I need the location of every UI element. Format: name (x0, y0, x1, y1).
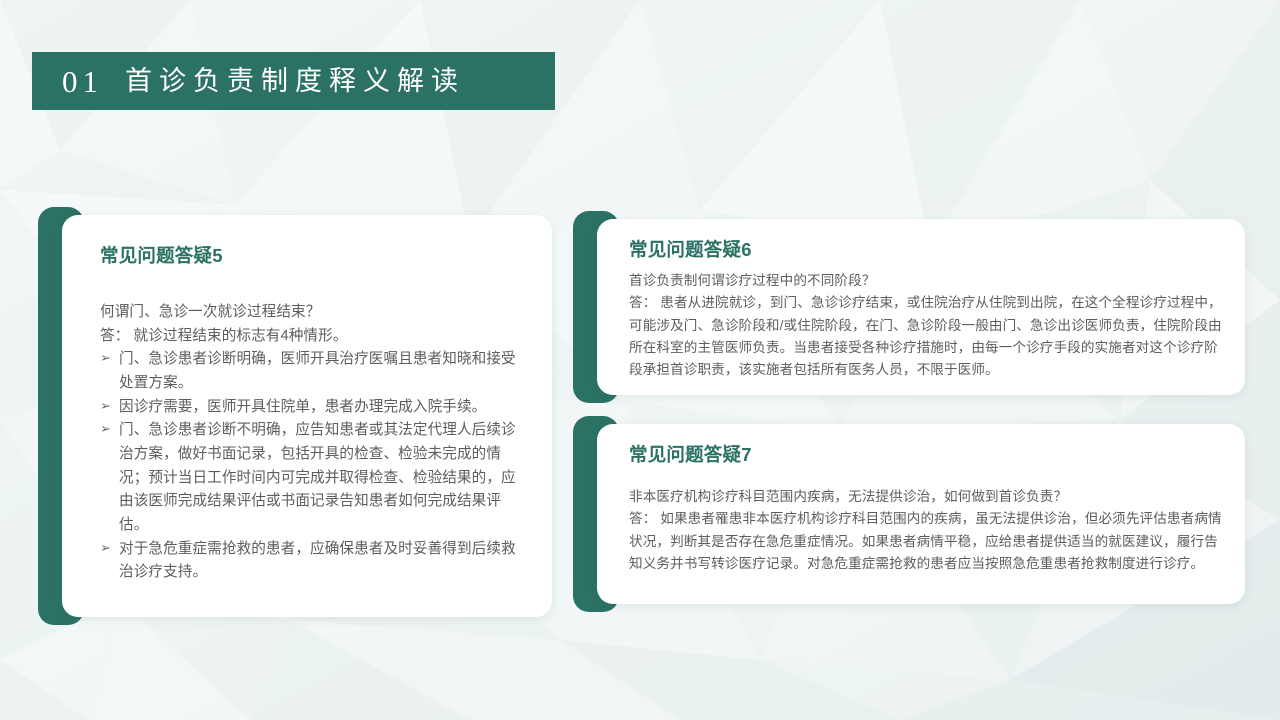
arrow-bullet-icon: ➢ (100, 538, 111, 559)
arrow-bullet-icon: ➢ (100, 419, 111, 440)
card-question: 非本医疗机构诊疗科目范围内疾病，无法提供诊治，如何做到首诊负责？ (629, 486, 1223, 508)
list-item: ➢ 对于急危重症需抢救的患者，应确保患者及时妥善得到后续救治诊疗支持。 (100, 538, 528, 585)
section-title-text: 首诊负责制度释义解读 (125, 68, 465, 95)
list-item-text: 门、急诊患者诊断明确，医师开具治疗医嘱且患者知晓和接受处置方案。 (119, 351, 516, 391)
faq-card-7: 常见问题答疑7 非本医疗机构诊疗科目范围内疾病，无法提供诊治，如何做到首诊负责？… (573, 416, 1245, 612)
card-answer: 答： 患者从进院就诊，到门、急诊诊疗结束，或住院治疗从住院到出院，在这个全程诊疗… (629, 292, 1223, 381)
list-item-text: 因诊疗需要，医师开具住院单，患者办理完成入院手续。 (119, 399, 486, 415)
card-text: 非本医疗机构诊疗科目范围内疾病，无法提供诊治，如何做到首诊负责？ 答： 如果患者… (629, 486, 1223, 575)
card-title: 常见问题答疑7 (629, 444, 1223, 466)
arrow-bullet-icon: ➢ (100, 396, 111, 417)
card-text: 首诊负责制何谓诊疗过程中的不同阶段？ 答： 患者从进院就诊，到门、急诊诊疗结束，… (629, 270, 1223, 381)
card-body: 常见问题答疑5 何谓门、急诊一次就诊过程结束？ 答： 就诊过程结束的标志有4种情… (62, 215, 552, 617)
list-item-text: 对于急危重症需抢救的患者，应确保患者及时妥善得到后续救治诊疗支持。 (119, 541, 516, 581)
list-item: ➢ 门、急诊患者诊断明确，医师开具治疗医嘱且患者知晓和接受处置方案。 (100, 348, 528, 395)
faq-card-6: 常见问题答疑6 首诊负责制何谓诊疗过程中的不同阶段？ 答： 患者从进院就诊，到门… (573, 211, 1245, 403)
card-title: 常见问题答疑5 (100, 245, 528, 267)
section-title-bar: 01 首诊负责制度释义解读 (32, 52, 555, 110)
faq-card-5: 常见问题答疑5 何谓门、急诊一次就诊过程结束？ 答： 就诊过程结束的标志有4种情… (38, 207, 552, 625)
card-answer: 答： 如果患者罹患非本医疗机构诊疗科目范围内的疾病，虽无法提供诊治，但必须先评估… (629, 508, 1223, 575)
card-answer-intro: 答： 就诊过程结束的标志有4种情形。 (100, 325, 528, 349)
card-bullet-list: ➢ 门、急诊患者诊断明确，医师开具治疗医嘱且患者知晓和接受处置方案。 ➢ 因诊疗… (100, 348, 528, 584)
arrow-bullet-icon: ➢ (100, 348, 111, 369)
list-item: ➢ 门、急诊患者诊断不明确，应告知患者或其法定代理人后续诊治方案，做好书面记录，… (100, 419, 528, 537)
list-item-text: 门、急诊患者诊断不明确，应告知患者或其法定代理人后续诊治方案，做好书面记录，包括… (119, 422, 516, 533)
card-question: 首诊负责制何谓诊疗过程中的不同阶段？ (629, 270, 1223, 292)
section-number: 01 (62, 66, 103, 97)
card-question: 何谓门、急诊一次就诊过程结束？ (100, 301, 528, 325)
card-title: 常见问题答疑6 (629, 239, 1223, 261)
card-body: 常见问题答疑6 首诊负责制何谓诊疗过程中的不同阶段？ 答： 患者从进院就诊，到门… (597, 219, 1245, 395)
card-body: 常见问题答疑7 非本医疗机构诊疗科目范围内疾病，无法提供诊治，如何做到首诊负责？… (597, 424, 1245, 604)
list-item: ➢ 因诊疗需要，医师开具住院单，患者办理完成入院手续。 (100, 396, 528, 420)
card-text: 何谓门、急诊一次就诊过程结束？ 答： 就诊过程结束的标志有4种情形。 ➢ 门、急… (100, 301, 528, 585)
